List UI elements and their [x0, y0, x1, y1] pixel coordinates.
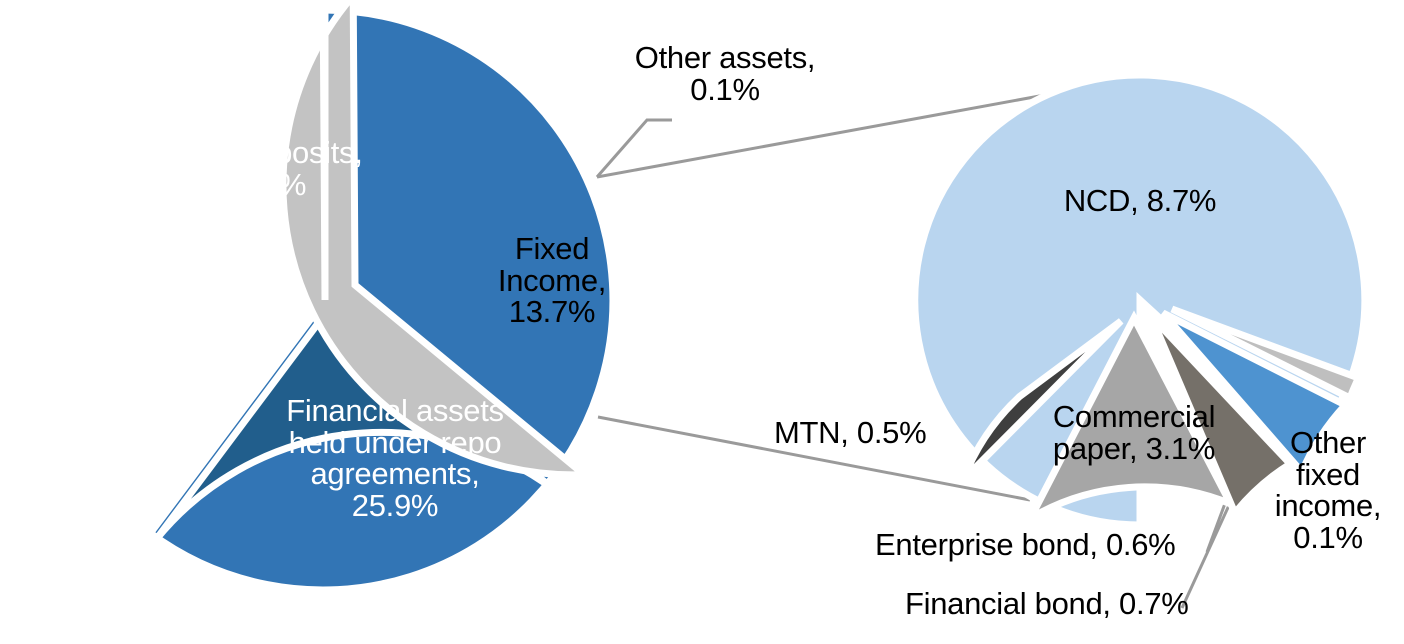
label-fixed-income: Fixed Income, 13.7% — [472, 233, 632, 328]
pie-of-pie-chart: Bank deposits, 60.3% Financial assets he… — [0, 0, 1404, 644]
label-financial-bond: Financial bond, 0.7% — [905, 588, 1255, 620]
other-assets-leader — [597, 120, 672, 177]
label-bank-deposits: Bank deposits, 60.3% — [128, 137, 398, 200]
label-mtn: MTN, 0.5% — [774, 417, 974, 449]
label-other-fixed-income: Other fixed income, 0.1% — [1258, 427, 1398, 553]
label-other-assets: Other assets, 0.1% — [610, 42, 840, 105]
label-repo-agreements: Financial assets held under repo agreeme… — [255, 395, 535, 521]
label-commercial-paper: Commercial paper, 3.1% — [1023, 401, 1245, 464]
label-enterprise-bond: Enterprise bond, 0.6% — [875, 529, 1225, 561]
label-ncd: NCD, 8.7% — [1035, 185, 1245, 217]
